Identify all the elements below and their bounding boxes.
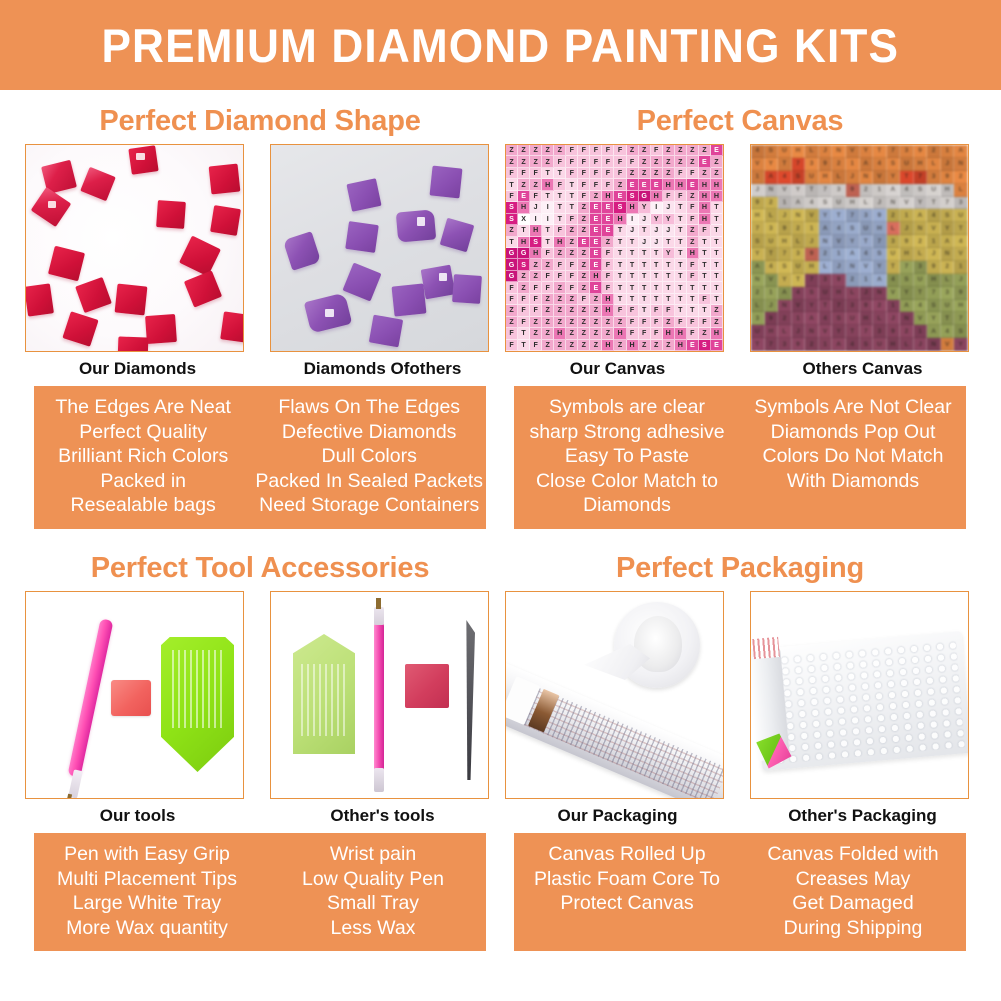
- canvas-symbol-cell: T: [675, 282, 687, 293]
- canvas-symbol-cell: Z: [639, 145, 651, 156]
- canvas-blurred-cell: 7: [900, 261, 914, 274]
- diamond-highlight: [417, 217, 425, 226]
- canvas-symbol-cell: T: [675, 214, 687, 225]
- canvas-blurred-cell: 2: [792, 222, 806, 235]
- canvas-blurred-cell: V: [954, 248, 968, 261]
- canvas-symbol-cell: E: [590, 214, 602, 225]
- canvas-symbol-cell: J: [639, 237, 651, 248]
- canvas-tube: SS-011: [505, 660, 724, 799]
- section-packaging: Perfect Packaging SS-011 Our Packaging: [505, 545, 975, 951]
- canvas-symbol-cell: F: [554, 259, 566, 270]
- canvas-symbol-cell: H: [542, 179, 554, 190]
- canvas-symbol-cell: Z: [711, 305, 723, 316]
- canvas-symbol-cell: T: [614, 282, 626, 293]
- canvas-symbol-cell: F: [566, 259, 578, 270]
- canvas-blurred-cell: V: [819, 325, 833, 338]
- caption-other-diamonds: Diamonds Ofothers: [270, 352, 495, 386]
- canvas-symbol-cell: T: [663, 271, 675, 282]
- canvas-blurred-cell: V: [846, 145, 860, 158]
- canvas-blurred-cell: 4: [846, 338, 860, 351]
- canvas-symbol-cell: E: [590, 248, 602, 259]
- canvas-blurred-cell: J: [954, 274, 968, 287]
- canvas-symbol-cell: T: [554, 191, 566, 202]
- canvas-symbol-cell: F: [518, 168, 530, 179]
- infographic-page: PREMIUM DIAMOND PAINTING KITS Perfect Di…: [0, 0, 1001, 1001]
- canvas-symbol-cell: F: [578, 156, 590, 167]
- canvas-symbol-cell: Y: [651, 214, 663, 225]
- canvas-symbol-cell: T: [699, 282, 711, 293]
- canvas-symbol-cell: F: [699, 225, 711, 236]
- canvas-blurred-cell: Y: [805, 300, 819, 313]
- canvas-blurred-cell: N: [954, 158, 968, 171]
- pen-nib: [376, 598, 381, 609]
- canvas-symbol-cell: H: [518, 237, 530, 248]
- canvas-blurred-cell: N: [941, 248, 955, 261]
- canvas-symbol-cell: F: [651, 328, 663, 339]
- canvas-symbol-cell: I: [627, 214, 639, 225]
- canvas-blurred-cell: U: [873, 338, 887, 351]
- canvas-blurred-cell: L: [873, 312, 887, 325]
- canvas-symbol-cell: F: [675, 317, 687, 328]
- canvas-symbol-cell: T: [675, 248, 687, 259]
- canvas-symbol-cell: T: [687, 305, 699, 316]
- canvas-blurred-cell: 1: [792, 312, 806, 325]
- canvas-blurred-cell: H: [765, 325, 779, 338]
- canvas-symbol-cell: H: [711, 179, 723, 190]
- canvas-symbol-cell: H: [530, 225, 542, 236]
- canvas-symbol-cell: F: [530, 340, 542, 351]
- canvas-blurred-cell: 2: [860, 184, 874, 197]
- benefit-line: sharp Strong adhesive: [517, 420, 737, 445]
- canvas-symbol-cell: Y: [639, 202, 651, 213]
- diamond-bead: [452, 274, 482, 304]
- canvas-blurred-cell: Y: [887, 171, 901, 184]
- canvas-symbol-cell: J: [663, 202, 675, 213]
- canvas-symbol-cell: I: [651, 202, 663, 213]
- canvas-symbol-cell: T: [639, 294, 651, 305]
- canvas-blurred-cell: U: [887, 248, 901, 261]
- canvas-symbol-cell: T: [614, 248, 626, 259]
- canvas-symbol-cell: F: [602, 156, 614, 167]
- canvas-blurred-cell: S: [778, 261, 792, 274]
- canvas-symbol-cell: T: [614, 271, 626, 282]
- canvas-blurred-cell: Y: [941, 222, 955, 235]
- canvas-symbol-cell: S: [530, 237, 542, 248]
- canvas-symbol-cell: J: [627, 225, 639, 236]
- diamond-bead: [156, 200, 186, 229]
- canvas-symbol-cell: F: [663, 191, 675, 202]
- column-our-canvas: ZZZZZFFFFFZZFZZZZEZZZZFFFFFFFZZZZZEZFFFT…: [505, 144, 730, 386]
- canvas-symbol-cell: Z: [506, 317, 518, 328]
- canvas-symbol-cell: Z: [651, 340, 663, 351]
- canvas-blurred-cell: 7: [765, 338, 779, 351]
- canvas-blurred-cell: 9: [927, 261, 941, 274]
- canvas-blurred-cell: 4: [941, 325, 955, 338]
- canvas-blurred-cell: U: [900, 158, 914, 171]
- canvas-symbol-cell: Z: [614, 179, 626, 190]
- textbox-tools: Pen with Easy Grip Multi Placement Tips …: [34, 833, 486, 951]
- canvas-symbol-cell: I: [542, 202, 554, 213]
- canvas-symbol-cell: T: [566, 202, 578, 213]
- canvas-symbol-cell: Z: [687, 225, 699, 236]
- tweezers: [459, 620, 475, 780]
- canvas-symbol-cell: Z: [506, 305, 518, 316]
- diamond-bead: [145, 314, 177, 344]
- white-tube-packaging-photo: SS-011: [505, 591, 724, 799]
- canvas-blurred-cell: 9: [954, 287, 968, 300]
- canvas-symbol-cell: H: [699, 214, 711, 225]
- canvas-blurred-cell: J: [941, 158, 955, 171]
- canvas-blurred-cell: U: [778, 145, 792, 158]
- canvas-symbol-cell: E: [699, 156, 711, 167]
- canvas-symbol-cell: Z: [687, 237, 699, 248]
- caption-our-packaging: Our Packaging: [505, 799, 730, 833]
- canvas-blurred-cell: T: [765, 248, 779, 261]
- canvas-symbol-cell: H: [675, 179, 687, 190]
- canvas-blurred-cell: 4: [860, 248, 874, 261]
- pen-cap: [374, 768, 384, 792]
- canvas-symbol-cell: T: [542, 237, 554, 248]
- photo-pair-canvas: ZZZZZFFFFFZZFZZZZEZZZZFFFFFFFZZZZZEZFFFT…: [505, 144, 975, 386]
- canvas-symbol-cell: E: [651, 179, 663, 190]
- canvas-symbol-cell: Z: [566, 328, 578, 339]
- canvas-symbol-cell: T: [675, 202, 687, 213]
- canvas-symbol-cell: H: [687, 248, 699, 259]
- canvas-symbol-cell: G: [506, 248, 518, 259]
- canvas-symbol-cell: F: [590, 179, 602, 190]
- canvas-blurred-cell: L: [832, 171, 846, 184]
- canvas-symbol-cell: F: [578, 191, 590, 202]
- canvas-blurred-cell: T: [778, 158, 792, 171]
- canvas-symbol-cell: Z: [711, 168, 723, 179]
- canvas-symbol-cell: F: [506, 168, 518, 179]
- canvas-blurred-cell: A: [805, 312, 819, 325]
- canvas-symbol-cell: T: [542, 225, 554, 236]
- canvas-symbol-cell: T: [687, 282, 699, 293]
- canvas-symbol-cell: T: [663, 282, 675, 293]
- canvas-symbol-cell: T: [627, 271, 639, 282]
- canvas-symbol-cell: F: [590, 145, 602, 156]
- canvas-blurred-cell: 4: [887, 274, 901, 287]
- canvas-symbol-cell: T: [663, 237, 675, 248]
- canvas-blurred-cell: Y: [819, 209, 833, 222]
- canvas-symbol-cell: F: [602, 259, 614, 270]
- canvas-blurred-cell: T: [887, 261, 901, 274]
- canvas-blurred-cell: H: [819, 171, 833, 184]
- canvas-blurred-cell: Y: [927, 312, 941, 325]
- canvas-blurred-cell: A: [941, 235, 955, 248]
- canvas-blurred-cell: A: [954, 145, 968, 158]
- diamond-bead: [430, 166, 463, 199]
- canvas-symbol-cell: F: [530, 191, 542, 202]
- canvas-symbol-cell: Z: [627, 145, 639, 156]
- canvas-symbol-cell: Z: [578, 317, 590, 328]
- canvas-blurred-cell: L: [860, 197, 874, 210]
- canvas-blurred-cell: S: [873, 248, 887, 261]
- diamond-bead: [115, 284, 148, 316]
- benefit-line: Close Color Match to: [517, 469, 737, 494]
- canvas-symbol-cell: Z: [675, 145, 687, 156]
- canvas-symbol-cell: I: [530, 214, 542, 225]
- canvas-symbol-cell: Z: [554, 282, 566, 293]
- canvas-blurred-cell: L: [805, 145, 819, 158]
- canvas-symbol-cell: F: [578, 145, 590, 156]
- canvas-symbol-cell: F: [687, 214, 699, 225]
- canvas-symbol-cell: F: [530, 305, 542, 316]
- textlist-our-tools: Pen with Easy Grip Multi Placement Tips …: [34, 842, 260, 940]
- canvas-symbol-cell: F: [602, 179, 614, 190]
- section-diamond-shape: Perfect Diamond Shape: [25, 98, 495, 529]
- canvas-blurred-cell: 3: [846, 300, 860, 313]
- canvas-blurred-cell: T: [914, 287, 928, 300]
- canvas-symbol-cell: Y: [663, 248, 675, 259]
- canvas-symbol-cell: X: [518, 214, 530, 225]
- canvas-symbol-cell: Z: [578, 259, 590, 270]
- photo-pair-diamond-shape: Our Diamonds: [25, 144, 495, 386]
- canvas-symbol-cell: E: [518, 191, 530, 202]
- canvas-blurred-cell: H: [927, 274, 941, 287]
- benefit-line: Large White Tray: [37, 891, 257, 916]
- canvas-blurred-cell: H: [846, 197, 860, 210]
- canvas-blurred-cell: 9: [819, 158, 833, 171]
- drawback-line: Low Quality Pen: [263, 867, 483, 892]
- canvas-blurred-cell: H: [914, 158, 928, 171]
- canvas-blurred-cell: U: [941, 300, 955, 313]
- benefit-line: Protect Canvas: [517, 891, 737, 916]
- bubble-mailer-packaging-photo: [750, 591, 969, 799]
- canvas-symbol-cell: H: [590, 271, 602, 282]
- canvas-symbol-cell: T: [506, 237, 518, 248]
- canvas-blurred-cell: L: [927, 158, 941, 171]
- canvas-blurred-cell: 1: [778, 197, 792, 210]
- canvas-symbol-cell: S: [518, 259, 530, 270]
- canvas-symbol-cell: Z: [578, 305, 590, 316]
- canvas-blurred-cell: T: [751, 338, 765, 351]
- canvas-blurred-cell: 7: [819, 184, 833, 197]
- canvas-blurred-cell: T: [846, 325, 860, 338]
- benefit-line: Easy To Paste: [517, 444, 737, 469]
- canvas-symbol-cell: F: [614, 156, 626, 167]
- canvas-symbol-cell: T: [614, 225, 626, 236]
- canvas-symbol-cell: F: [602, 282, 614, 293]
- canvas-symbol-cell: Z: [506, 145, 518, 156]
- canvas-blurred-cell: 3: [765, 222, 779, 235]
- canvas-blurred-cell: 1: [873, 184, 887, 197]
- canvas-symbol-cell: F: [639, 328, 651, 339]
- canvas-symbol-cell: E: [711, 340, 723, 351]
- canvas-blurred-cell: A: [873, 274, 887, 287]
- canvas-symbol-cell: H: [554, 237, 566, 248]
- drawback-line: Small Tray: [263, 891, 483, 916]
- canvas-blurred-cell: 2: [805, 338, 819, 351]
- canvas-blurred-cell: T: [900, 171, 914, 184]
- canvas-symbol-cell: H: [530, 248, 542, 259]
- canvas-blurred-cell: J: [778, 209, 792, 222]
- canvas-blurred-cell: N: [873, 287, 887, 300]
- drawback-line: During Shipping: [743, 916, 963, 941]
- canvas-symbol-cell: I: [542, 214, 554, 225]
- canvas-symbol-cell: Z: [542, 259, 554, 270]
- canvas-symbol-cell: T: [506, 179, 518, 190]
- canvas-symbol-cell: Z: [542, 317, 554, 328]
- canvas-symbol-cell: Z: [578, 248, 590, 259]
- canvas-symbol-cell: Z: [578, 214, 590, 225]
- canvas-blurred-cell: V: [765, 274, 779, 287]
- canvas-symbol-cell: F: [518, 294, 530, 305]
- canvas-blurred-cell: V: [778, 184, 792, 197]
- canvas-blurred-cell: L: [887, 222, 901, 235]
- canvas-symbol-cell: T: [699, 248, 711, 259]
- canvas-symbol-cell: F: [602, 145, 614, 156]
- canvas-blurred-grid: 4SUHLJNVYT73921AVYT73921A4SUHLJN1A4SUHLJ…: [751, 145, 968, 351]
- canvas-symbol-cell: T: [663, 294, 675, 305]
- canvas-symbol-cell: Z: [663, 340, 675, 351]
- canvas-symbol-cell: Z: [663, 156, 675, 167]
- canvas-symbol-cell: T: [699, 271, 711, 282]
- canvas-blurred-cell: T: [860, 235, 874, 248]
- canvas-symbol-cell: T: [675, 237, 687, 248]
- canvas-symbol-cell: E: [602, 214, 614, 225]
- canvas-symbol-cell: Z: [566, 237, 578, 248]
- canvas-blurred-cell: 7: [887, 145, 901, 158]
- canvas-symbol-cell: Z: [530, 145, 542, 156]
- canvas-symbol-cell: T: [554, 168, 566, 179]
- canvas-symbol-cell: Z: [554, 340, 566, 351]
- canvas-symbol-cell: F: [627, 156, 639, 167]
- canvas-symbol-cell: F: [627, 317, 639, 328]
- canvas-blurred-cell: V: [873, 171, 887, 184]
- canvas-symbol-cell: T: [518, 340, 530, 351]
- benefit-line: Canvas Rolled Up: [517, 842, 737, 867]
- canvas-symbol-cell: Z: [651, 156, 663, 167]
- canvas-symbol-cell: Z: [554, 317, 566, 328]
- canvas-symbol-cell: F: [578, 168, 590, 179]
- canvas-blurred-cell: 7: [860, 325, 874, 338]
- canvas-symbol-cell: Z: [663, 145, 675, 156]
- canvas-blurred-cell: N: [819, 235, 833, 248]
- column-other-tools: Other's tools: [270, 591, 495, 833]
- canvas-blurred-cell: 7: [914, 171, 928, 184]
- canvas-blurred-cell: 7: [927, 287, 941, 300]
- canvas-symbol-cell: H: [614, 214, 626, 225]
- canvas-symbol-cell: Z: [578, 202, 590, 213]
- canvas-blurred-cell: A: [819, 222, 833, 235]
- column-our-packaging: SS-011 Our Packaging: [505, 591, 730, 833]
- canvas-symbol-cell: S: [506, 214, 518, 225]
- textlist-other-tools: Wrist pain Low Quality Pen Small Tray Le…: [260, 842, 486, 940]
- canvas-blurred-cell: 4: [751, 145, 765, 158]
- canvas-symbol-cell: Z: [578, 282, 590, 293]
- blurry-color-canvas-photo: 4SUHLJNVYT73921AVYT73921A4SUHLJN1A4SUHLJ…: [750, 144, 969, 352]
- canvas-symbol-cell: Z: [530, 328, 542, 339]
- canvas-symbol-cell: F: [530, 294, 542, 305]
- drawback-line: Defective Diamonds: [255, 420, 483, 445]
- canvas-blurred-cell: Y: [792, 184, 806, 197]
- diamond-bead: [421, 265, 456, 300]
- canvas-blurred-cell: H: [832, 287, 846, 300]
- canvas-blurred-cell: 4: [914, 300, 928, 313]
- canvas-symbol-cell: F: [590, 168, 602, 179]
- diamond-highlight: [136, 153, 145, 160]
- diamond-bead: [118, 336, 149, 352]
- canvas-symbol-cell: T: [651, 271, 663, 282]
- canvas-symbol-cell: F: [687, 317, 699, 328]
- canvas-symbol-cell: F: [627, 305, 639, 316]
- canvas-symbol-cell: T: [675, 225, 687, 236]
- canvas-blurred-cell: L: [765, 209, 779, 222]
- diamond-bead: [128, 145, 158, 175]
- diamond-bead: [369, 315, 403, 348]
- canvas-blurred-cell: L: [846, 287, 860, 300]
- drawback-line: Get Damaged: [743, 891, 963, 916]
- canvas-blurred-cell: L: [751, 300, 765, 313]
- canvas-blurred-cell: 3: [819, 274, 833, 287]
- canvas-blurred-cell: A: [927, 325, 941, 338]
- canvas-symbol-cell: F: [590, 156, 602, 167]
- canvas-blurred-cell: V: [900, 197, 914, 210]
- canvas-symbol-cell: Z: [530, 271, 542, 282]
- canvas-blurred-cell: V: [887, 287, 901, 300]
- canvas-blurred-cell: J: [887, 312, 901, 325]
- canvas-symbol-cell: F: [687, 202, 699, 213]
- canvas-symbol-cell: F: [518, 317, 530, 328]
- photo-pair-packaging: SS-011 Our Packaging Other's P: [505, 591, 975, 833]
- canvas-symbol-cell: Z: [627, 168, 639, 179]
- canvas-symbol-cell: T: [699, 259, 711, 270]
- canvas-blurred-cell: N: [765, 184, 779, 197]
- canvas-blurred-cell: A: [900, 300, 914, 313]
- canvas-symbol-cell: J: [651, 237, 663, 248]
- canvas-symbol-cell: E: [687, 340, 699, 351]
- canvas-blurred-cell: S: [819, 197, 833, 210]
- canvas-symbol-cell: Z: [699, 145, 711, 156]
- canvas-symbol-cell: F: [687, 328, 699, 339]
- canvas-symbol-cell: Z: [518, 282, 530, 293]
- canvas-symbol-cell: Z: [566, 317, 578, 328]
- canvas-symbol-cell: Z: [602, 317, 614, 328]
- drawback-line: Colors Do Not Match: [743, 444, 963, 469]
- canvas-symbol-cell: Z: [699, 168, 711, 179]
- benefit-line: Packed in: [37, 469, 249, 494]
- canvas-blurred-cell: 7: [792, 158, 806, 171]
- canvas-blurred-cell: Y: [873, 261, 887, 274]
- canvas-symbol-cell: F: [506, 191, 518, 202]
- canvas-symbol-cell: F: [530, 282, 542, 293]
- textlist-other-canvas: Symbols Are Not Clear Diamonds Pop Out C…: [740, 395, 966, 518]
- canvas-symbol-cell: E: [590, 237, 602, 248]
- column-other-canvas: 4SUHLJNVYT73921AVYT73921A4SUHLJN1A4SUHLJ…: [750, 144, 975, 386]
- canvas-blurred-cell: T: [954, 222, 968, 235]
- canvas-blurred-cell: 4: [900, 184, 914, 197]
- canvas-blurred-cell: S: [914, 184, 928, 197]
- canvas-blurred-cell: H: [941, 184, 955, 197]
- canvas-symbol-cell: F: [687, 271, 699, 282]
- diamond-bead: [25, 283, 54, 316]
- canvas-symbol-cell: T: [711, 282, 723, 293]
- canvas-symbol-cell: H: [627, 202, 639, 213]
- canvas-symbol-cell: Z: [590, 328, 602, 339]
- drawback-line: Need Storage Containers: [255, 493, 483, 518]
- canvas-symbol-cell: F: [614, 168, 626, 179]
- canvas-blurred-cell: S: [832, 312, 846, 325]
- canvas-symbol-cell: E: [711, 145, 723, 156]
- canvas-blurred-cell: 2: [927, 145, 941, 158]
- column-our-tools: Our tools: [25, 591, 250, 833]
- canvas-symbol-cell: Z: [578, 271, 590, 282]
- canvas-blurred-cell: L: [914, 248, 928, 261]
- diamond-bead: [345, 221, 379, 253]
- canvas-blurred-cell: 1: [819, 338, 833, 351]
